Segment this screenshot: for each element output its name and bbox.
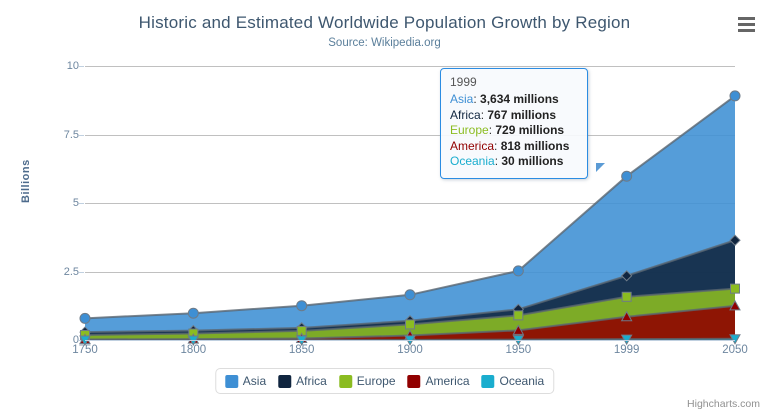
legend-item-label: Europe	[357, 374, 396, 388]
legend-item-america[interactable]: America	[408, 374, 470, 388]
legend-item-africa[interactable]: Africa	[278, 374, 327, 388]
tooltip-row: Europe: 729 millions	[450, 123, 578, 139]
legend-item-label: Oceania	[500, 374, 545, 388]
tooltip-separator: :	[473, 92, 480, 106]
y-axis-labels: 107.552.50	[27, 66, 79, 340]
tooltip-row: America: 818 millions	[450, 139, 578, 155]
y-axis-tick-label: 10	[33, 60, 79, 72]
y-axis-tick	[79, 272, 84, 273]
legend-swatch-icon	[482, 375, 495, 388]
y-axis-tick	[79, 66, 84, 67]
data-point-marker[interactable]	[622, 292, 631, 301]
legend-item-asia[interactable]: Asia	[225, 374, 266, 388]
menu-bar-3	[738, 29, 755, 32]
series-layer	[85, 66, 735, 340]
tooltip-series-name: Africa	[450, 108, 481, 122]
x-axis-tick-label: 2050	[722, 344, 748, 356]
x-axis-tick-label: 1900	[397, 344, 423, 356]
chart-tooltip: 1999 Asia: 3,634 millionsAfrica: 767 mil…	[440, 68, 588, 179]
menu-bar-1	[738, 17, 755, 20]
y-axis-tick-label: 7.5	[33, 129, 79, 141]
data-point-marker[interactable]	[730, 91, 740, 101]
tooltip-row: Asia: 3,634 millions	[450, 92, 578, 108]
tooltip-series-name: America	[450, 139, 494, 153]
data-point-marker[interactable]	[188, 308, 198, 318]
data-point-marker[interactable]	[80, 313, 90, 323]
x-axis-tick-label: 1750	[72, 344, 98, 356]
plot-area	[85, 66, 735, 340]
menu-bar-2	[738, 23, 755, 26]
y-axis-tick-label: 5	[33, 197, 79, 209]
x-axis-labels: 1750180018501900195019992050	[85, 344, 735, 362]
tooltip-row: Africa: 767 millions	[450, 108, 578, 124]
hamburger-menu-icon[interactable]	[733, 13, 759, 35]
legend-item-label: Asia	[243, 374, 266, 388]
tooltip-pointer	[596, 163, 605, 172]
x-axis-line	[85, 340, 735, 341]
tooltip-series-value: 729 millions	[495, 123, 564, 137]
legend-item-label: America	[426, 374, 470, 388]
data-point-marker[interactable]	[731, 284, 740, 293]
data-point-marker[interactable]	[406, 320, 415, 329]
legend-item-oceania[interactable]: Oceania	[482, 374, 545, 388]
x-axis-tick-label: 1800	[181, 344, 207, 356]
chart-subtitle: Source: Wikipedia.org	[0, 37, 769, 49]
tooltip-row: Oceania: 30 millions	[450, 154, 578, 170]
tooltip-series-value: 30 millions	[501, 154, 563, 168]
chart-legend: AsiaAfricaEuropeAmericaOceania	[215, 368, 554, 394]
tooltip-series-name: Oceania	[450, 154, 495, 168]
x-axis-tick-label: 1950	[506, 344, 532, 356]
highcharts-credits[interactable]: Highcharts.com	[687, 398, 760, 410]
chart-title: Historic and Estimated Worldwide Populat…	[0, 13, 769, 33]
tooltip-series-value: 3,634 millions	[480, 92, 559, 106]
y-axis-tick-label: 2.5	[33, 266, 79, 278]
legend-swatch-icon	[339, 375, 352, 388]
tooltip-series-name: Asia	[450, 92, 473, 106]
y-axis-tick	[79, 135, 84, 136]
legend-item-label: Africa	[296, 374, 327, 388]
tooltip-series-value: 818 millions	[501, 139, 570, 153]
tooltip-separator: :	[494, 139, 501, 153]
data-point-marker[interactable]	[514, 311, 523, 320]
tooltip-series-name: Europe	[450, 123, 489, 137]
data-point-marker[interactable]	[513, 266, 523, 276]
data-point-marker[interactable]	[405, 290, 415, 300]
data-point-marker[interactable]	[297, 301, 307, 311]
tooltip-rows: Asia: 3,634 millionsAfrica: 767 millions…	[450, 92, 578, 170]
x-axis-tick-label: 1999	[614, 344, 640, 356]
legend-item-europe[interactable]: Europe	[339, 374, 396, 388]
y-axis-tick	[79, 203, 84, 204]
highcharts-container: Historic and Estimated Worldwide Populat…	[0, 0, 769, 416]
legend-swatch-icon	[278, 375, 291, 388]
legend-swatch-icon	[408, 375, 421, 388]
data-point-marker[interactable]	[622, 171, 632, 181]
legend-swatch-icon	[225, 375, 238, 388]
tooltip-header: 1999	[450, 75, 578, 89]
x-axis-tick-label: 1850	[289, 344, 315, 356]
tooltip-series-value: 767 millions	[487, 108, 556, 122]
